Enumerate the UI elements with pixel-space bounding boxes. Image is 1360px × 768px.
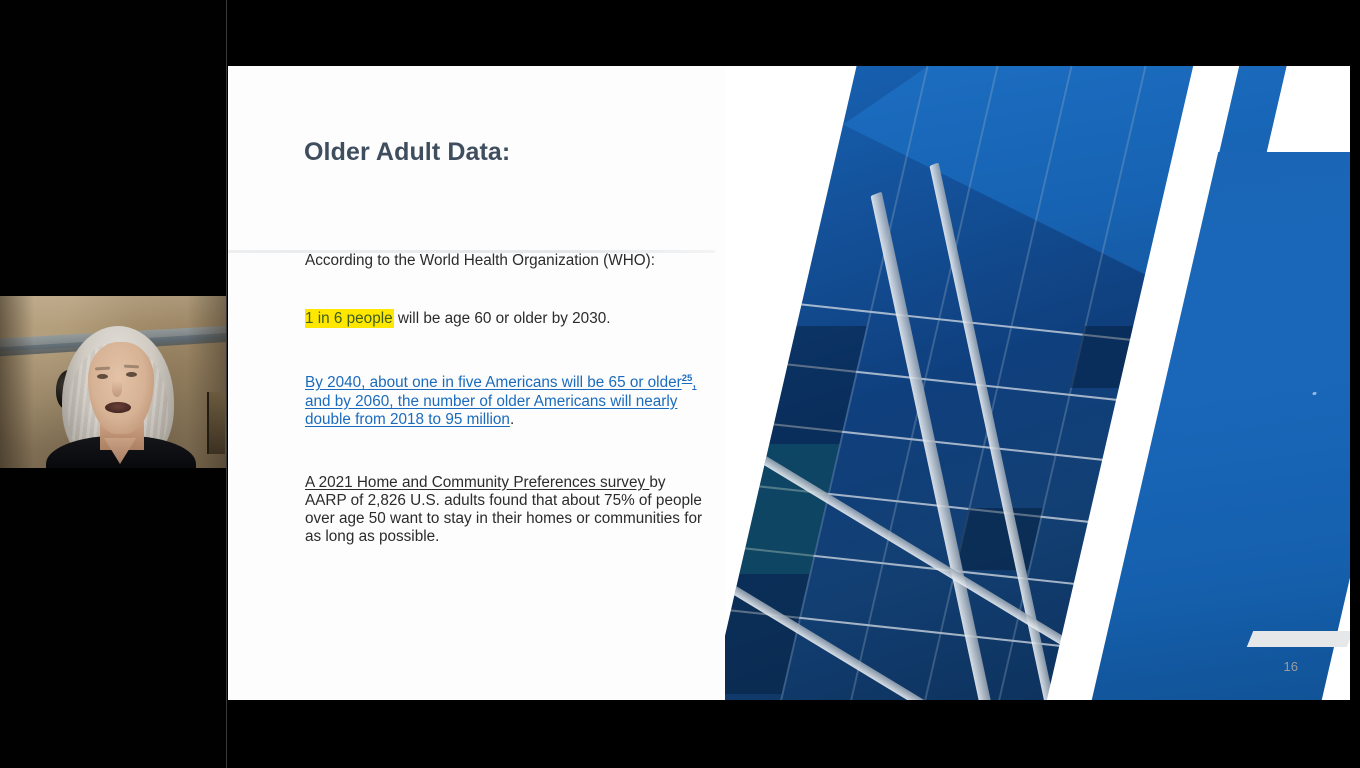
highlighted-stat: 1 in 6 people bbox=[305, 309, 394, 328]
speaker-eye-left bbox=[97, 374, 108, 379]
link-trailing-period: . bbox=[510, 411, 514, 428]
sky-speck bbox=[1312, 392, 1317, 395]
shared-slide[interactable]: Older Adult Data: According to the World… bbox=[228, 66, 1350, 700]
picture-frame-right bbox=[207, 392, 225, 454]
wall-shadow-left bbox=[0, 296, 34, 468]
aarp-survey-title: A 2021 Home and Community Preferences su… bbox=[305, 474, 649, 491]
stat-highlight-line: 1 in 6 people will be age 60 or older by… bbox=[305, 310, 710, 328]
projection-hyperlink-paragraph[interactable]: By 2040, about one in five Americans wil… bbox=[305, 370, 710, 430]
link-part-one[interactable]: By 2040, about one in five Americans wil… bbox=[305, 374, 682, 391]
citation-superscript: 25 bbox=[682, 373, 693, 384]
webcam-video-tile[interactable] bbox=[0, 296, 227, 468]
participant-video-panel[interactable] bbox=[0, 0, 227, 768]
meeting-window: Older Adult Data: According to the World… bbox=[0, 0, 1360, 768]
speaker-eye-right bbox=[126, 372, 137, 377]
page-title: Older Adult Data: bbox=[304, 138, 510, 167]
slide-number: 16 bbox=[1284, 659, 1298, 674]
speaker-nose bbox=[112, 381, 122, 397]
aarp-survey-paragraph: A 2021 Home and Community Preferences su… bbox=[305, 474, 710, 546]
gray-accent-bar bbox=[1247, 631, 1350, 647]
blue-glass-building-photo bbox=[725, 66, 1350, 700]
intro-line: According to the World Health Organizati… bbox=[305, 252, 710, 270]
speaker-mouth bbox=[105, 402, 131, 413]
slide-body: According to the World Health Organizati… bbox=[305, 252, 710, 546]
stat-rest-text: will be age 60 or older by 2030. bbox=[394, 310, 611, 327]
